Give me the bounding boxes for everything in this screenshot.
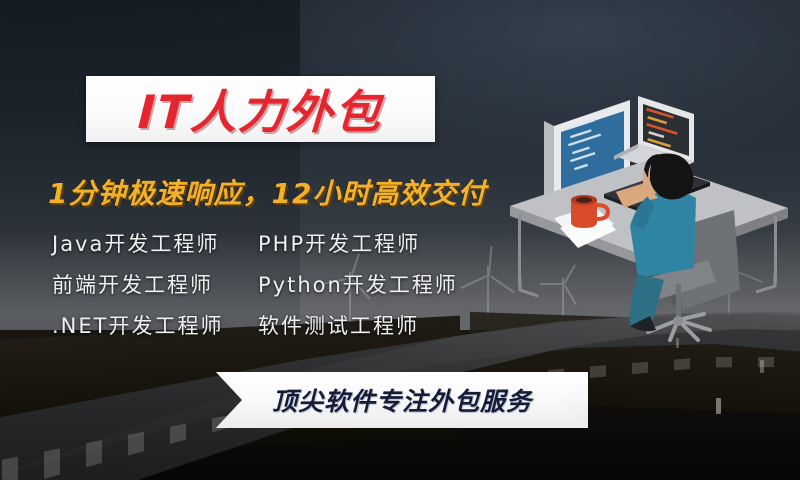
- page-title: IT人力外包: [84, 76, 436, 142]
- list-item: 前端开发工程师 Python开发工程师: [52, 263, 502, 304]
- list-item: .NET开发工程师 软件测试工程师: [52, 304, 502, 345]
- developer-at-desk-illustration: [498, 78, 798, 350]
- service-label: Python开发工程师: [258, 269, 498, 299]
- service-list: Java开发工程师 PHP开发工程师 前端开发工程师 Python开发工程师 .…: [52, 222, 502, 345]
- roadside-post: [760, 360, 764, 373]
- service-label: .NET开发工程师: [52, 310, 258, 340]
- roadside-post: [716, 398, 721, 414]
- headline-band: IT人力外包: [86, 76, 435, 142]
- ribbon-label: 顶尖软件专注外包服务: [272, 382, 532, 418]
- promo-banner: IT人力外包 1分钟极速响应，12小时高效交付 Java开发工程师 PHP开发工…: [0, 0, 800, 480]
- service-label: PHP开发工程师: [258, 228, 498, 258]
- service-label: Java开发工程师: [52, 228, 258, 258]
- list-item: Java开发工程师 PHP开发工程师: [52, 222, 502, 263]
- subheadline: 1分钟极速响应，12小时高效交付: [48, 172, 518, 212]
- service-label: 前端开发工程师: [52, 269, 258, 299]
- ribbon-banner: 顶尖软件专注外包服务: [216, 372, 588, 428]
- service-label: 软件测试工程师: [258, 310, 498, 340]
